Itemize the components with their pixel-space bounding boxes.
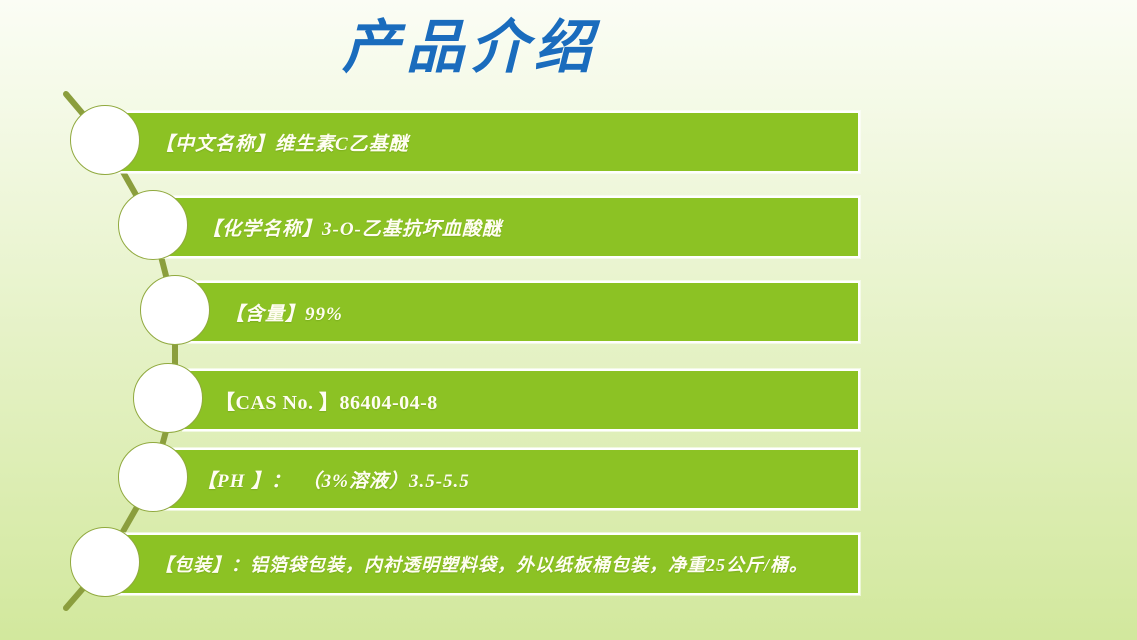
info-dot-2[interactable] (118, 190, 188, 260)
info-dot-3[interactable] (140, 275, 210, 345)
info-bar-2-text: 【化学名称】3-O-乙基抗坏血酸醚 (202, 214, 502, 241)
slide-canvas: 产品介绍 【中文名称】维生素C乙基醚 【化学名称】3-O-乙基抗坏血酸醚 【含量… (0, 0, 1137, 640)
info-bar-3-text: 【含量】99% (225, 299, 343, 326)
info-bar-2[interactable]: 【化学名称】3-O-乙基抗坏血酸醚 (160, 196, 860, 258)
info-bar-6[interactable]: 【包装】：铝箔袋包装，内衬透明塑料袋，外以纸板桶包装，净重25公斤/桶。 (113, 533, 860, 595)
info-row: 【中文名称】维生素C乙基醚 (0, 111, 1137, 173)
info-dot-4[interactable] (133, 363, 203, 433)
info-bar-5[interactable]: 【PH 】： （3%溶液）3.5-5.5 (160, 448, 860, 510)
info-bar-4[interactable]: 【CAS No. 】86404-04-8 (183, 369, 860, 431)
info-dot-6[interactable] (70, 527, 140, 597)
info-bar-1[interactable]: 【中文名称】维生素C乙基醚 (113, 111, 860, 173)
info-bar-6-text: 【包装】：铝箔袋包装，内衬透明塑料袋，外以纸板桶包装，净重25公斤/桶。 (155, 551, 808, 577)
info-dot-5[interactable] (118, 442, 188, 512)
info-dot-1[interactable] (70, 105, 140, 175)
info-bar-4-text: 【CAS No. 】86404-04-8 (215, 386, 438, 415)
page-title: 产品介绍 (0, 12, 940, 85)
info-bar-1-text: 【中文名称】维生素C乙基醚 (155, 129, 409, 156)
info-bar-3[interactable]: 【含量】99% (183, 281, 860, 343)
info-bar-5-text: 【PH 】： （3%溶液）3.5-5.5 (197, 466, 470, 493)
info-row: 【包装】：铝箔袋包装，内衬透明塑料袋，外以纸板桶包装，净重25公斤/桶。 (0, 533, 1137, 595)
